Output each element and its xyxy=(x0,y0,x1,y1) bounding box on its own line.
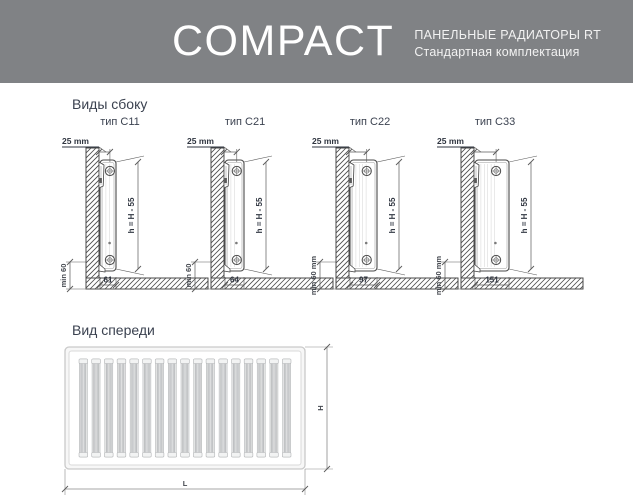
dim-depth-label-1: 64 xyxy=(230,276,239,285)
side-views-title: Виды сбоку xyxy=(72,96,147,112)
type-label-c11: тип С11 xyxy=(75,116,165,128)
dim-height-3: h = H - 55 xyxy=(509,156,537,275)
dim-wall-gap-label-0: 25 mm xyxy=(62,136,89,146)
dim-depth-label-3: 151 xyxy=(485,276,499,285)
type-label-c21: тип С21 xyxy=(200,116,290,128)
front-view-svg: HL xyxy=(60,344,360,494)
page-header: COMPACT ПАНЕЛЬНЫЕ РАДИАТОРЫ RT Стандартн… xyxy=(0,0,633,83)
dim-floor-clearance-3: min 60 mm xyxy=(434,256,461,296)
dim-front-height-label: H xyxy=(316,405,325,410)
wall-bracket-3 xyxy=(474,162,479,188)
dim-height-0: h = H - 55 xyxy=(116,156,144,275)
wall-bracket-0 xyxy=(99,162,104,188)
grille-fins xyxy=(79,359,291,457)
dim-wall-gap-label-1: 25 mm xyxy=(187,136,214,146)
side-view-diagram-c33: 25 mmh = H - 55151min 60 mm xyxy=(433,138,593,308)
dim-clearance-label-1: min 60 xyxy=(184,264,193,288)
dim-front-length: L xyxy=(62,469,308,495)
header-subtitle-group: ПАНЕЛЬНЫЕ РАДИАТОРЫ RT Стандартная компл… xyxy=(414,25,601,59)
mid-port-1 xyxy=(235,242,238,245)
mid-port-0 xyxy=(108,242,111,245)
dim-floor-clearance-1: min 60 xyxy=(184,259,211,292)
dim-floor-clearance-2: min 60 mm xyxy=(309,256,336,296)
front-view-diagram: HL xyxy=(60,344,360,494)
side-view-svg: 25 mmh = H - 55151min 60 mm xyxy=(433,138,593,310)
dim-front-length-label: L xyxy=(183,479,188,488)
dim-height-label-3: h = H - 55 xyxy=(520,197,529,233)
dim-height-label-1: h = H - 55 xyxy=(255,197,264,233)
front-view-title: Вид спереди xyxy=(72,322,155,338)
radiator-panel-2 xyxy=(350,160,377,271)
dim-floor-clearance-0: min 60 xyxy=(59,259,86,292)
dim-height-label-2: h = H - 55 xyxy=(388,197,397,233)
dim-height-1: h = H - 55 xyxy=(244,156,272,275)
header-subtitle-line1: ПАНЕЛЬНЫЕ РАДИАТОРЫ RT xyxy=(414,28,601,42)
brand-title: COMPACT xyxy=(172,20,394,63)
dim-height-label-0: h = H - 55 xyxy=(127,197,136,233)
dim-depth-label-0: 61 xyxy=(104,276,113,285)
header-content: COMPACT ПАНЕЛЬНЫЕ РАДИАТОРЫ RT Стандартн… xyxy=(172,20,601,63)
type-label-c33: тип С33 xyxy=(450,116,540,128)
dim-clearance-label-0: min 60 xyxy=(59,264,68,288)
radiator-panel-3 xyxy=(475,160,509,271)
wall-bracket-1 xyxy=(224,162,229,188)
dim-front-height: H xyxy=(305,344,333,472)
header-subtitle-line2: Стандартная комплектация xyxy=(414,45,601,59)
wall-bracket-2 xyxy=(349,162,354,188)
dim-wall-gap-label-2: 25 mm xyxy=(312,136,339,146)
mid-port-2 xyxy=(365,242,368,245)
dim-height-2: h = H - 55 xyxy=(377,156,405,275)
dim-wall-gap-label-3: 25 mm xyxy=(437,136,464,146)
type-label-c22: тип С22 xyxy=(325,116,415,128)
dim-depth-label-2: 97 xyxy=(359,276,368,285)
dim-clearance-label-2: min 60 mm xyxy=(309,256,318,296)
dim-clearance-label-3: min 60 mm xyxy=(434,256,443,296)
mid-port-3 xyxy=(494,242,497,245)
